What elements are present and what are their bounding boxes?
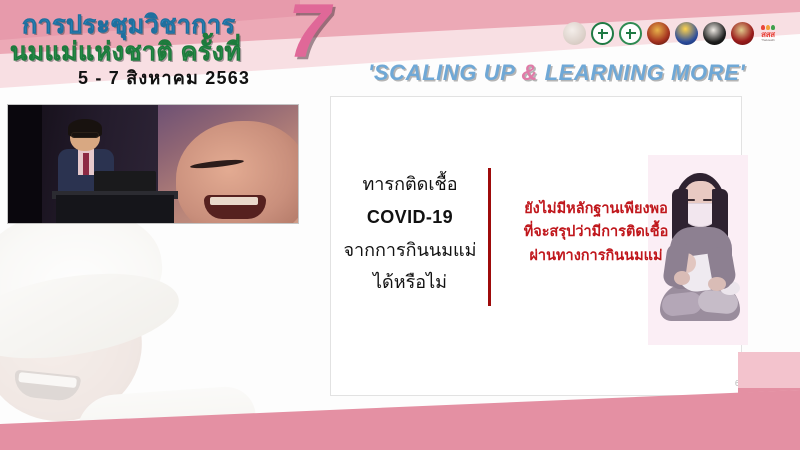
podium [56,195,174,223]
mother-eye-right [703,199,712,201]
thaihealth-sublabel: ThaiHealth [761,39,775,42]
tagline-prefix: 'SCALING UP [368,60,521,85]
question-line: ทารกติดเชื้อ [336,168,484,201]
answer-text-block: ยังไม่มีหลักฐานเพียงพอ ที่จะสรุปว่ามีการ… [500,198,692,268]
speaker-video-inset[interactable] [8,105,298,223]
watermark-teeth [18,372,77,388]
health-cross-icon [598,29,608,39]
question-line: จากการกินนมแม่ [336,234,484,267]
right-pink-band-light [738,352,800,390]
red-crest-logo [731,22,754,45]
ministry-public-health-logo [591,22,614,45]
mother-hand-right [708,277,726,291]
department-health-logo [619,22,642,45]
vertical-divider [488,168,491,306]
mother-hand-left [674,271,690,285]
health-cross-icon [626,29,636,39]
university-seal-logo [647,22,670,45]
presentation-slide: การประชุมวิชาการ นมแม่แห่งชาติ ครั้งที่ … [0,0,800,450]
question-line-covid: COVID-19 [336,201,484,234]
royal-college-logo [675,22,698,45]
sponsor-logos-row: สสส ThaiHealth [563,22,775,45]
stage-dark-column [8,105,42,223]
thaihealth-logo: สสส ThaiHealth [761,25,775,42]
answer-line: ยังไม่มีหลักฐานเพียงพอ [500,198,692,221]
speaker-tie [83,153,89,175]
answer-line: ที่จะสรุปว่ามีการติดเชื้อ [500,221,692,244]
question-line: ได้หรือไม่ [336,266,484,299]
answer-line: ผ่านทางการกินนมแม่ [500,245,692,268]
conference-date: 5 - 7 สิงหาคม 2563 [78,63,250,92]
speaker-glasses [71,132,99,138]
baby-teeth [210,197,258,205]
tagline-ampersand: & [521,60,538,85]
child-watermark-photo [0,215,340,430]
conference-edition-number: 7 [288,0,330,70]
black-seal-logo [703,22,726,45]
royal-emblem-logo [563,22,586,45]
conference-tagline: 'SCALING UP & LEARNING MORE' [368,60,745,86]
tagline-suffix: LEARNING MORE' [538,60,745,85]
question-text-block: ทารกติดเชื้อ COVID-19 จากการกินนมแม่ ได้… [336,168,484,299]
baby-mouth [204,195,266,219]
